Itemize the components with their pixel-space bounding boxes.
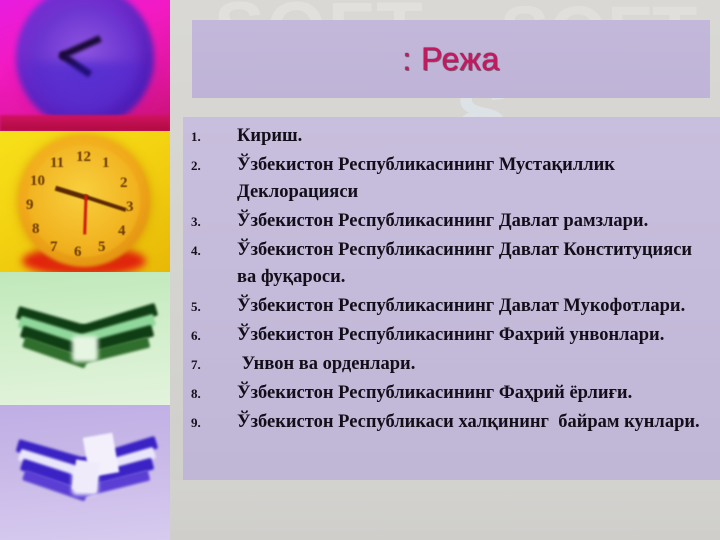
image-strip: 12 1 2 3 4 5 6 7 8 9 10 11 xyxy=(0,0,170,540)
list-item: 6. Ўзбекистон Республикасининг Фахрий ун… xyxy=(183,322,720,349)
list-item-number: 8. xyxy=(183,380,237,407)
list-item-label: Ўзбекистон Республикаси халқининг байрам… xyxy=(237,409,720,436)
clock-numeral-11: 11 xyxy=(50,155,64,172)
list-item: 5. Ўзбекистон Республикасининг Давлат Му… xyxy=(183,293,720,320)
strip-panel-book-purple xyxy=(0,405,170,540)
slide-bottom-band xyxy=(170,480,720,540)
book-green-image xyxy=(10,290,162,390)
list-item: 8. Ўзбекистон Республикасининг Фаҳрий ёр… xyxy=(183,380,720,407)
list-item: 4. Ўзбекистон Республикасининг Давлат Ко… xyxy=(183,237,720,291)
list-item-number: 6. xyxy=(183,322,237,349)
clock-numeral-3: 3 xyxy=(126,199,134,216)
slide-body-panel: 1. Кириш. 2. Ўзбекистон Республикасининг… xyxy=(183,117,720,480)
book-loose-sheet-2 xyxy=(72,459,100,492)
presentation-slide: 12 1 2 3 4 5 6 7 8 9 10 11 xyxy=(0,0,720,540)
list-item: 3. Ўзбекистон Республикасининг Давлат ра… xyxy=(183,208,720,235)
page-title: : Режа xyxy=(402,41,499,78)
clock-yellow-image: 12 1 2 3 4 5 6 7 8 9 10 11 xyxy=(0,131,170,272)
clock-numeral-7: 7 xyxy=(50,239,58,256)
list-item-number: 3. xyxy=(183,208,237,235)
clock-numeral-12: 12 xyxy=(76,149,91,166)
list-item-number: 2. xyxy=(183,152,237,179)
list-item-label: Ўзбекистон Республикасининг Фахрий унвон… xyxy=(237,322,720,349)
list-item: 7. Унвон ва орденлари. xyxy=(183,351,720,378)
strip-panel-clock-magenta xyxy=(0,0,170,131)
list-item-label: Унвон ва орденлари. xyxy=(237,351,720,378)
clock-numeral-6: 6 xyxy=(74,244,82,261)
clock-numeral-2: 2 xyxy=(120,175,128,192)
list-item-number: 1. xyxy=(183,123,237,150)
clock-numeral-10: 10 xyxy=(30,173,45,190)
list-item-number: 7. xyxy=(183,351,237,378)
agenda-list: 1. Кириш. 2. Ўзбекистон Республикасининг… xyxy=(183,123,720,438)
strip-panel-book-green xyxy=(0,272,170,405)
list-item-label: Ўзбекистон Республикасининг Мустақиллик … xyxy=(237,152,720,206)
list-item-number: 5. xyxy=(183,293,237,320)
slide-title-box: : Режа xyxy=(192,20,710,98)
list-item: 2. Ўзбекистон Республикасининг Мустақилл… xyxy=(183,152,720,206)
clock-numeral-5: 5 xyxy=(98,239,106,256)
list-item-number: 9. xyxy=(183,409,237,436)
list-item: 1. Кириш. xyxy=(183,123,720,150)
list-item: 9. Ўзбекистон Республикаси халқининг бай… xyxy=(183,409,720,436)
list-item-number: 4. xyxy=(183,237,237,264)
clock-numeral-8: 8 xyxy=(32,221,40,238)
panel-edge-band xyxy=(0,115,170,131)
book-spine xyxy=(72,336,98,362)
strip-panel-clock-yellow: 12 1 2 3 4 5 6 7 8 9 10 11 xyxy=(0,131,170,272)
list-item-label: Ўзбекистон Республикасининг Давлат Мукоф… xyxy=(237,293,720,320)
clock-numeral-9: 9 xyxy=(26,197,34,214)
clock-numeral-4: 4 xyxy=(118,223,126,240)
list-item-label: Ўзбекистон Республикасининг Давлат Конст… xyxy=(237,237,720,291)
clock-magenta-image xyxy=(0,0,170,131)
list-item-label: Ўзбекистон Республикасининг Фаҳрий ёрлиғ… xyxy=(237,380,720,407)
list-item-label: Кириш. xyxy=(237,123,720,150)
clock-numeral-1: 1 xyxy=(102,155,110,172)
list-item-label: Ўзбекистон Республикасининг Давлат рамзл… xyxy=(237,208,720,235)
